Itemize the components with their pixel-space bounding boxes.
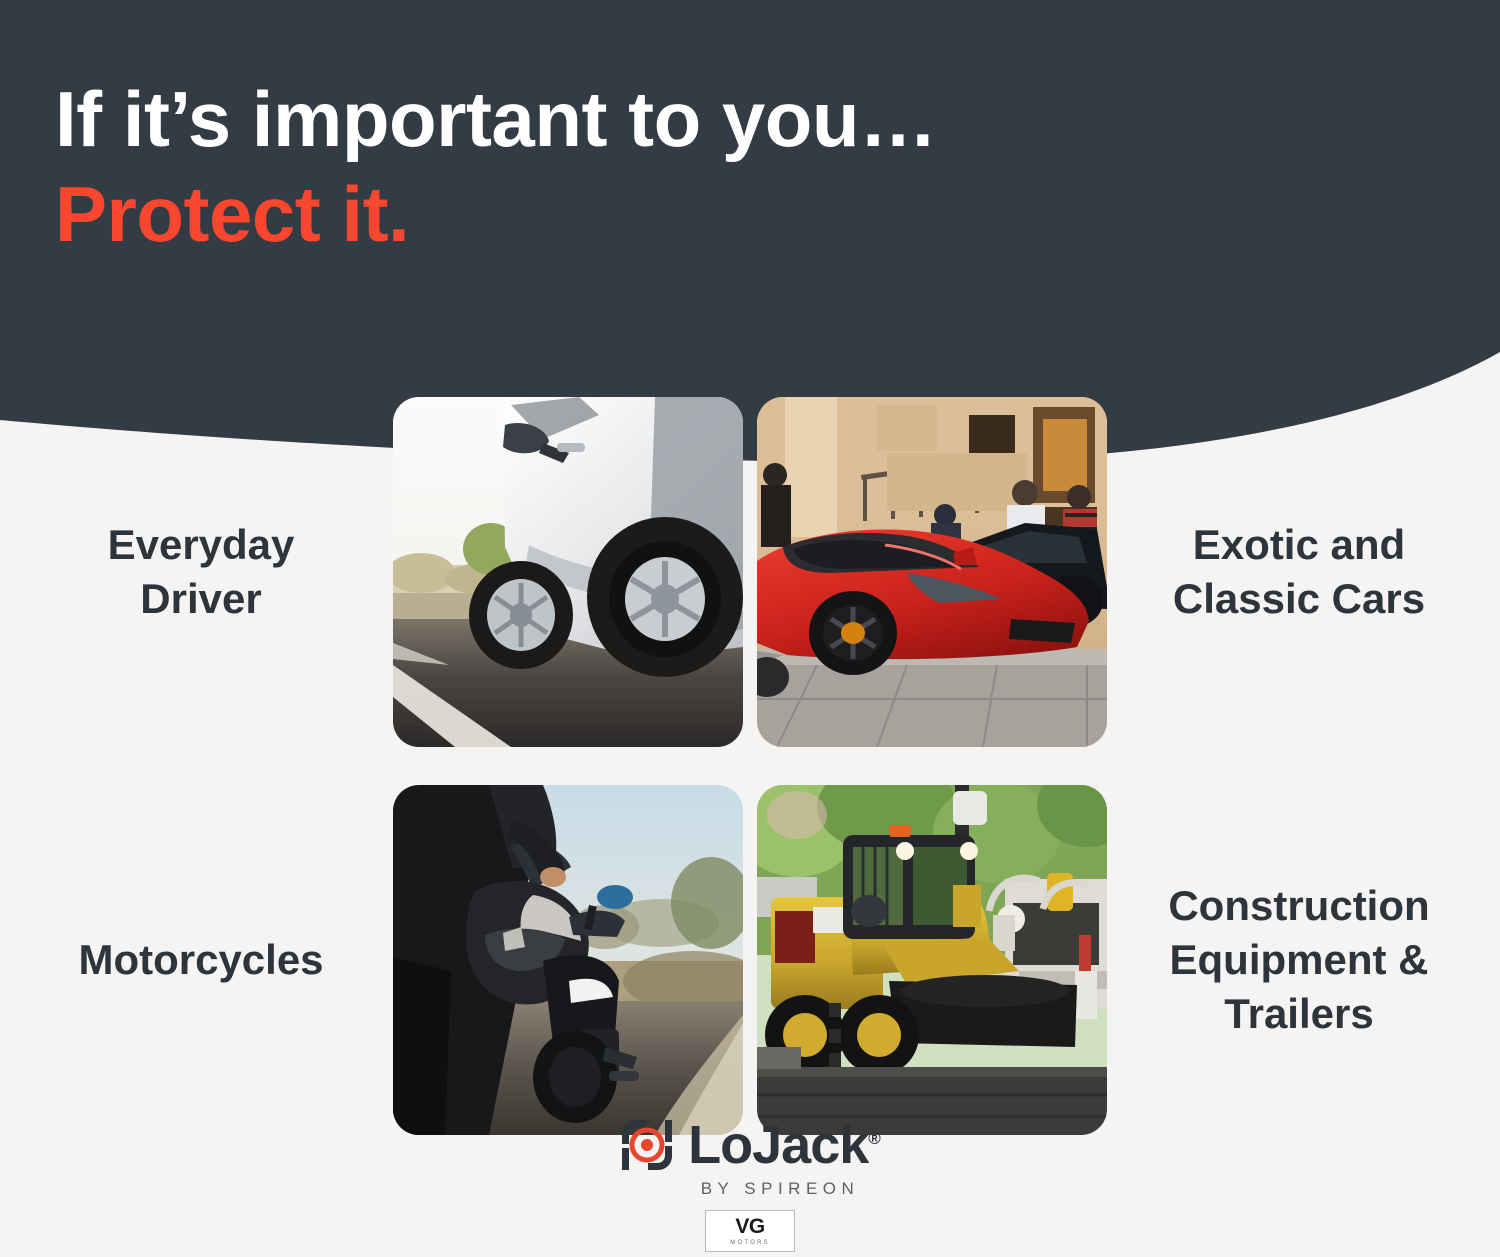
category-image-construction-equipment [757, 785, 1107, 1135]
logo-tagline: BY SPIREON [641, 1179, 860, 1199]
label-line: Equipment & [1122, 933, 1476, 987]
label-line: Driver [24, 572, 378, 626]
category-row-top: Everyday Driver [0, 378, 1500, 766]
lojack-logo: LoJack® BY SPIREON [0, 1118, 1500, 1199]
logo-wordmark: LoJack® [688, 1118, 880, 1172]
registered-trademark-icon: ® [868, 1129, 880, 1148]
label-line: Motorcycles [24, 933, 378, 987]
poster: If it’s important to you… Protect it. Ev… [0, 0, 1500, 1257]
category-grid: Everyday Driver [0, 378, 1500, 1154]
category-image-everyday-driver [393, 397, 743, 747]
lojack-shutter-circle-icon [620, 1118, 674, 1172]
category-row-bottom: Motorcycles [0, 766, 1500, 1154]
category-label-everyday-driver: Everyday Driver [16, 518, 386, 626]
category-label-construction-equipment: Construction Equipment & Trailers [1114, 879, 1484, 1040]
watermark-sub-text: MOTORS [730, 1240, 769, 1246]
category-label-exotic-classic-cars: Exotic and Classic Cars [1114, 518, 1484, 626]
headline-line-2: Protect it. [55, 167, 1255, 262]
logo-row: LoJack® [620, 1118, 880, 1172]
label-line: Classic Cars [1122, 572, 1476, 626]
label-line: Everyday [24, 518, 378, 572]
label-line: Exotic and [1122, 518, 1476, 572]
label-line: Construction [1122, 879, 1476, 933]
headline-line-1: If it’s important to you… [55, 72, 1255, 167]
vg-motors-watermark: VG MOTORS [705, 1210, 795, 1252]
headline: If it’s important to you… Protect it. [55, 72, 1255, 262]
category-image-motorcycles [393, 785, 743, 1135]
label-line: Trailers [1122, 987, 1476, 1041]
logo-wordmark-text: LoJack [688, 1115, 868, 1175]
category-image-exotic-classic-cars [757, 397, 1107, 747]
category-label-motorcycles: Motorcycles [16, 933, 386, 987]
watermark-main-text: VG [735, 1216, 764, 1237]
